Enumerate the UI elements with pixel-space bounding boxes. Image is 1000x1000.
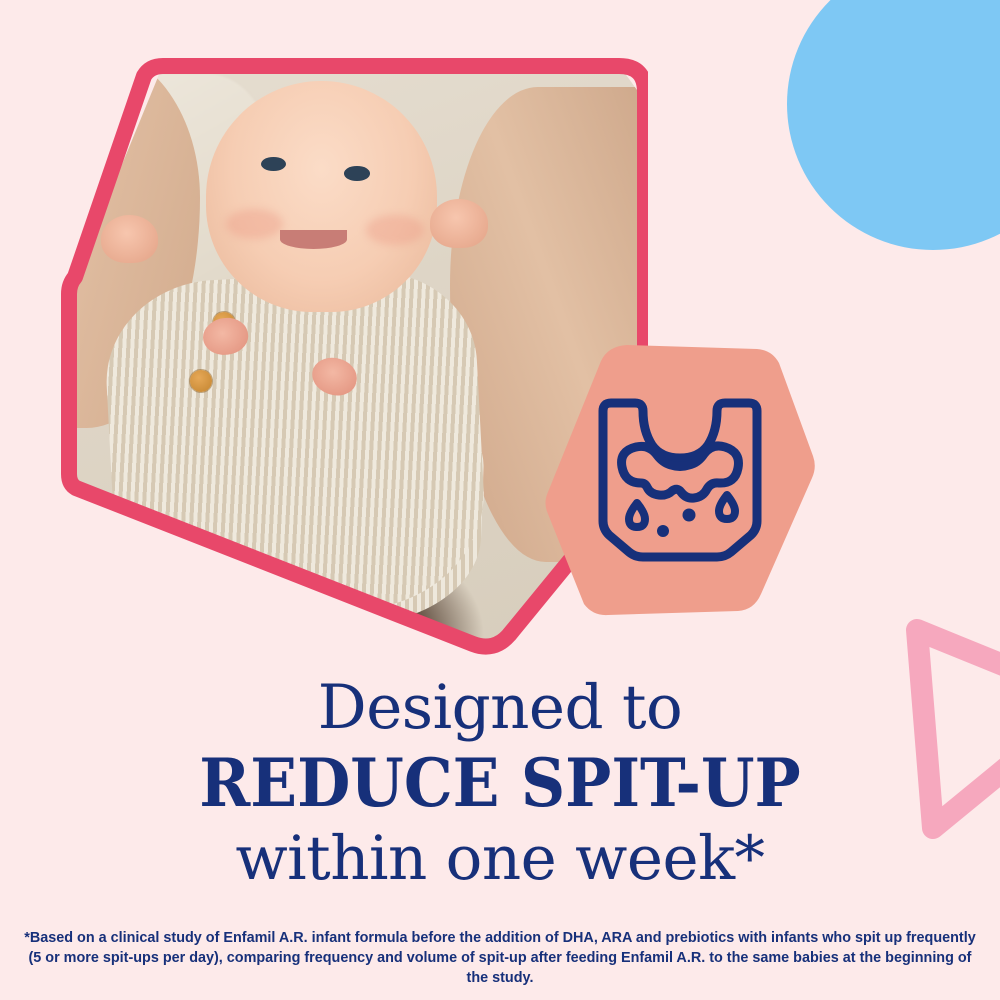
footnote-disclaimer: *Based on a clinical study of Enfamil A.… (22, 928, 978, 988)
promo-poster: Designed to REDUCE SPIT-UP within one we… (0, 0, 1000, 1000)
bib-badge-hexagon (543, 339, 817, 622)
headline-line-3: within one week* (0, 822, 1000, 896)
headline-line-2: REDUCE SPIT-UP (35, 744, 965, 822)
blue-circle-icon (787, 0, 1000, 250)
headline-line-1: Designed to (0, 672, 1000, 744)
baby-bib-icon (589, 391, 771, 571)
headline-block: Designed to REDUCE SPIT-UP within one we… (0, 672, 1000, 896)
